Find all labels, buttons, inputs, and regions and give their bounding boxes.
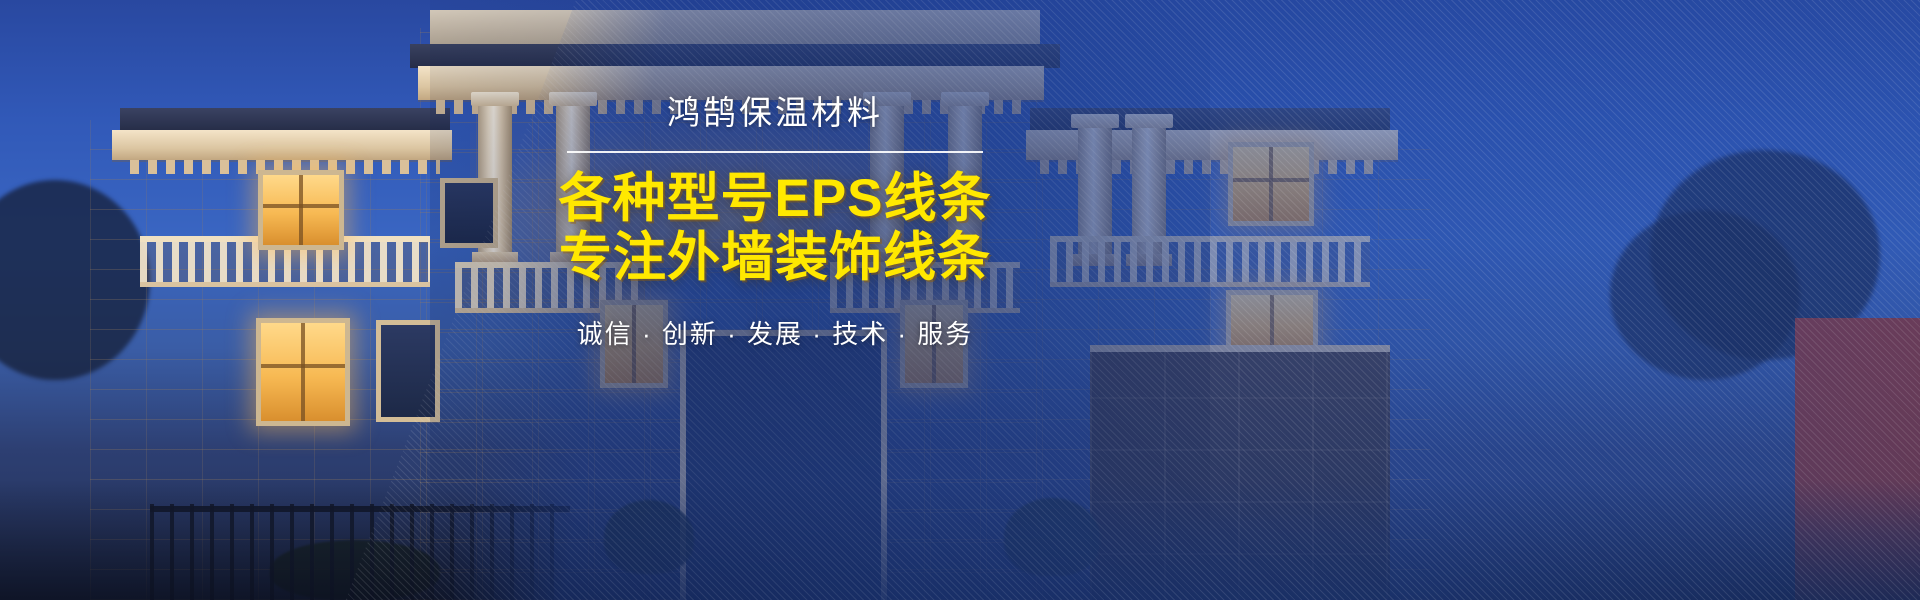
values-tagline: 诚信 · 创新 · 发展 · 技术 · 服务 (540, 314, 1010, 351)
headline-line-1: 各种型号EPS线条 (540, 169, 1010, 228)
hero-banner: 鸿鹄保温材料 各种型号EPS线条 专注外墙装饰线条 诚信 · 创新 · 发展 ·… (0, 0, 1920, 600)
banner-text-block: 鸿鹄保温材料 各种型号EPS线条 专注外墙装饰线条 诚信 · 创新 · 发展 ·… (540, 96, 1010, 351)
headline-group: 各种型号EPS线条 专注外墙装饰线条 (540, 169, 1010, 288)
window-lit-left-lower (256, 318, 350, 426)
cornice-left (112, 130, 452, 160)
company-brand-name: 鸿鹄保温材料 (540, 96, 1010, 129)
divider-rule (567, 151, 983, 153)
headline-line-2: 专注外墙装饰线条 (540, 228, 1010, 287)
window-lit-left-upper (258, 170, 344, 250)
